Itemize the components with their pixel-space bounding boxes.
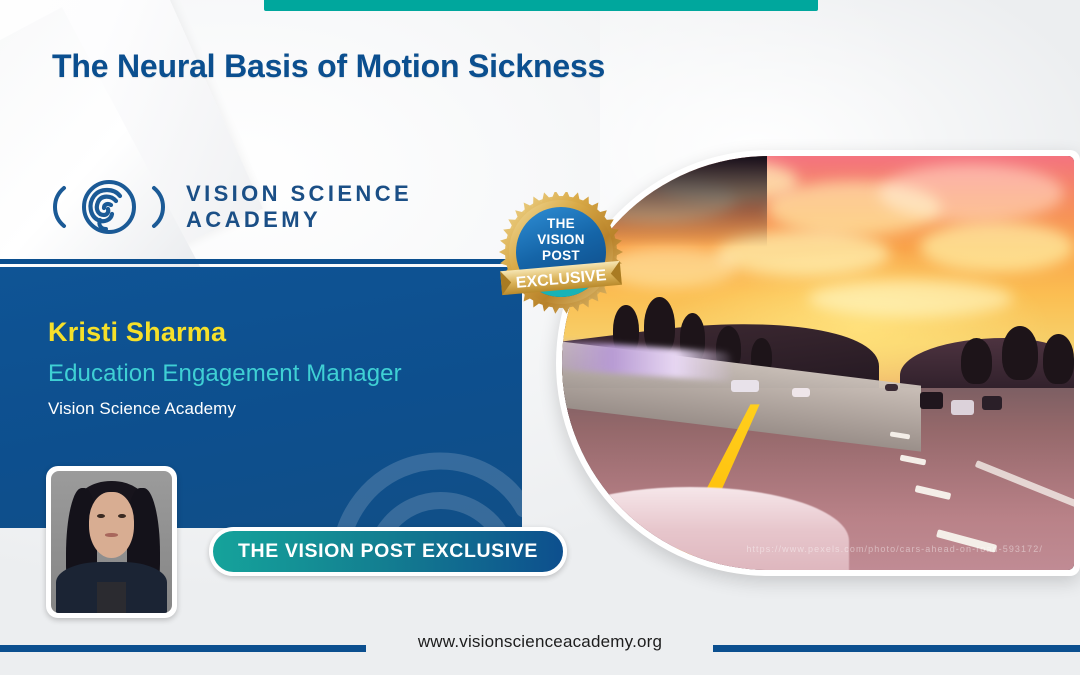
seal-line-3: POST: [542, 248, 580, 263]
avatar-shirt: [97, 582, 126, 613]
hero-photo: https://www.pexels.com/photo/cars-ahead-…: [562, 156, 1074, 570]
hero-car: [885, 384, 898, 391]
hero-car: [951, 400, 974, 415]
hero-car: [731, 380, 759, 392]
hero-image-container: https://www.pexels.com/photo/cars-ahead-…: [556, 150, 1080, 576]
hero-car: [920, 392, 943, 409]
top-accent-bar: [264, 0, 818, 11]
speaker-organization: Vision Science Academy: [48, 399, 236, 419]
hero-watermark-url: https://www.pexels.com/photo/cars-ahead-…: [746, 544, 1043, 554]
hero-tree: [1002, 326, 1038, 380]
hero-car: [792, 388, 810, 397]
footer-website-url: www.visionscienceacademy.org: [0, 632, 1080, 652]
exclusive-pill-badge: THE VISION POST EXCLUSIVE: [209, 527, 567, 576]
avatar-image: [51, 471, 172, 613]
hero-tree: [961, 338, 992, 384]
seal-line-2: VISION: [537, 232, 585, 247]
speaker-name: Kristi Sharma: [48, 317, 226, 348]
seal-line-1: THE: [547, 216, 575, 231]
hero-cloud: [920, 222, 1074, 272]
panel-watermark-logo-icon: [296, 417, 522, 528]
avatar-eye-right: [118, 514, 126, 519]
avatar-face: [89, 492, 135, 557]
brand-line-1: VISION SCIENCE: [186, 181, 412, 206]
speaker-avatar: [46, 466, 177, 618]
brand-wordmark: VISION SCIENCE ACADEMY: [186, 181, 412, 232]
page-title: The Neural Basis of Motion Sickness: [52, 47, 932, 85]
hero-cloud: [879, 164, 1063, 222]
exclusive-seal-badge: THE VISION POST EXCLUSIVE: [497, 192, 625, 320]
brand-line-2: ACADEMY: [186, 207, 412, 233]
slide-canvas: The Neural Basis of Motion Sickness VISI…: [0, 0, 1080, 675]
fingerprint-eye-logo-icon: [48, 176, 170, 238]
brand-logo: VISION SCIENCE ACADEMY: [48, 176, 412, 238]
hero-car: [982, 396, 1002, 410]
speaker-role: Education Engagement Manager: [48, 360, 402, 388]
exclusive-pill-label: THE VISION POST EXCLUSIVE: [238, 540, 538, 563]
avatar-mouth: [105, 533, 117, 536]
hero-tree: [1043, 334, 1074, 384]
panel-top-rule: [0, 259, 522, 264]
